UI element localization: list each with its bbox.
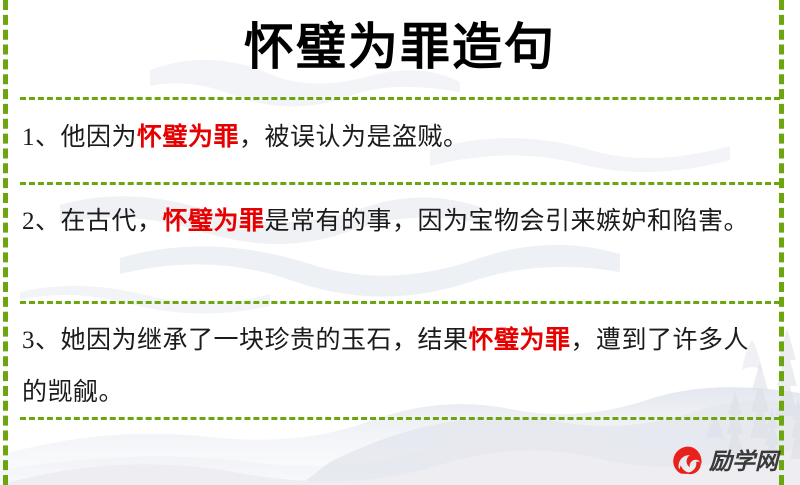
sentence-number: 2、 [22,208,61,235]
page-title: 怀璧为罪造句 [0,8,800,86]
divider-under-title [20,97,780,100]
divider-after-sentence-3 [20,417,780,420]
sentence-text-before: 她因为继承了一块珍贵的玉石，结果 [61,327,469,354]
list-item: 2、在古代，怀璧为罪是常有的事，因为宝物会引来嫉妒和陷害。 [0,182,800,301]
idiom-highlight: 怀璧为罪 [163,208,265,235]
list-item: 3、她因为继承了一块珍贵的玉石，结果怀璧为罪，遭到了许多人的觊觎。 [0,301,800,417]
idiom-highlight: 怀璧为罪 [137,124,239,151]
flame-swirl-icon [671,445,705,479]
idiom-highlight: 怀璧为罪 [469,327,571,354]
divider-after-sentence-1 [20,182,780,185]
sentence-number: 3、 [22,327,61,354]
sentence-list: 1、他因为怀璧为罪，被误认为是盗贼。 2、在古代，怀璧为罪是常有的事，因为宝物会… [0,97,800,417]
sentence-number: 1、 [22,124,61,151]
site-watermark-logo: 励学网 [671,444,778,480]
site-watermark-label: 励学网 [709,445,778,479]
divider-after-sentence-2 [20,301,780,304]
sentence-text-after: 是常有的事，因为宝物会引来嫉妒和陷害。 [265,208,750,235]
list-item: 1、他因为怀璧为罪，被误认为是盗贼。 [0,97,800,182]
sentence-text-before: 在古代， [61,208,163,235]
sentence-text-after: ，被误认为是盗贼。 [239,124,469,151]
frame-border-right [779,0,784,485]
sentence-text-before: 他因为 [61,124,138,151]
frame-border-left [3,0,8,485]
page-root: 怀璧为罪造句 1、他因为怀璧为罪，被误认为是盗贼。 2、在古代，怀璧为罪是常有的… [0,0,800,485]
